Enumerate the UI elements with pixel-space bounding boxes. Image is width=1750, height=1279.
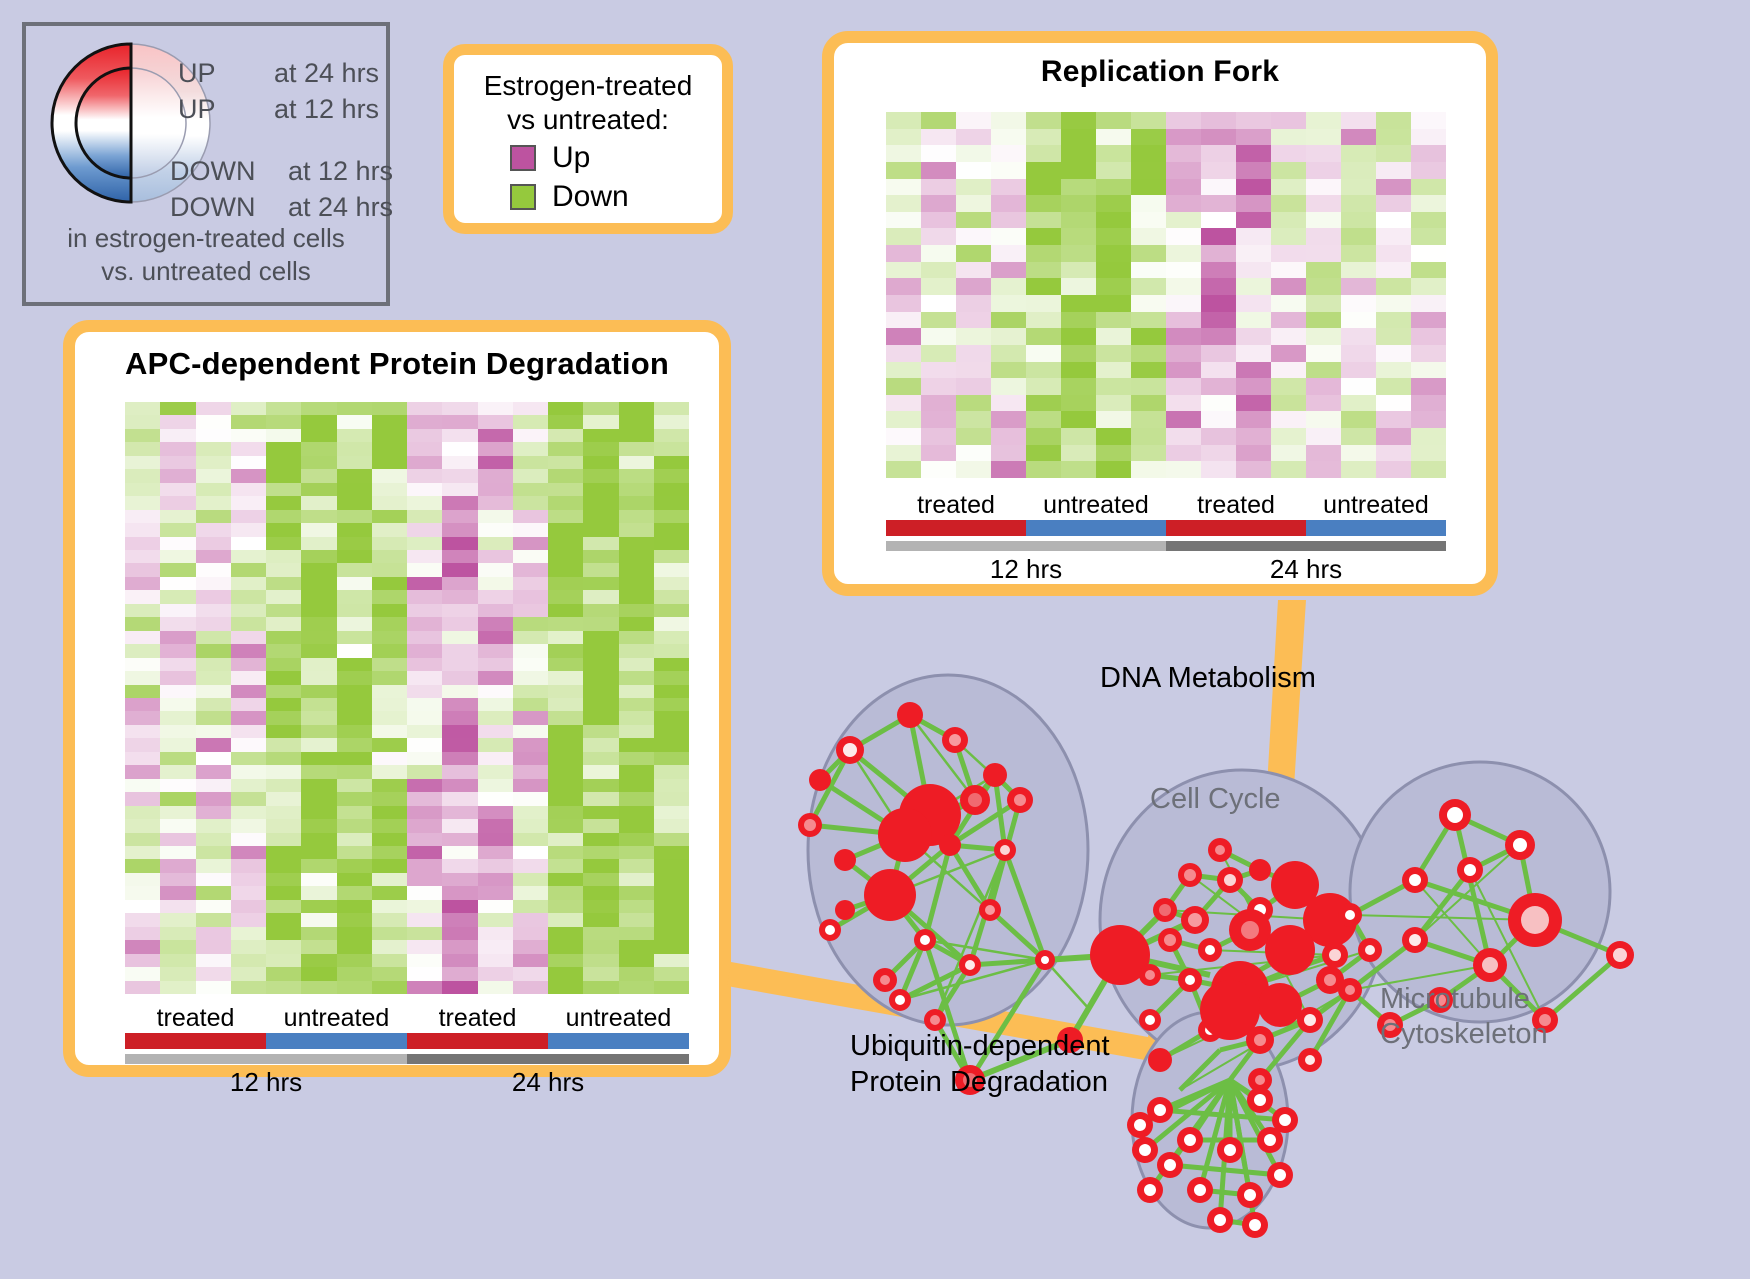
heatmap-cell [1201,112,1236,129]
apc-time-12: 12 hrs [125,1067,407,1098]
apc-cond-2: treated [407,1004,548,1033]
heatmap-cell [619,550,654,563]
heatmap-cell [1061,129,1096,146]
heatmap-cell [301,711,336,724]
heatmap-cell [442,765,477,778]
heatmap-cell [372,469,407,482]
rf-cond-1: untreated [1026,491,1166,520]
heatmap-cell [231,644,266,657]
heatmap-cell [654,779,689,792]
heatmap-cell [654,631,689,644]
heatmap-cell [231,510,266,523]
heatmap-cell [1376,345,1411,362]
heatmap-cell [442,442,477,455]
heatmap-cell [1026,428,1061,445]
heatmap-cell [513,496,548,509]
heatmap-cell [266,523,301,536]
heatmap-cell [1306,312,1341,329]
heatmap-cell [1271,362,1306,379]
heatmap-cell [160,590,195,603]
heatmap-cell [619,429,654,442]
heatmap-cell [196,725,231,738]
heatmap-cell [583,590,618,603]
heatmap-cell [1131,395,1166,412]
heatmap-cell [619,981,654,994]
heatmap-cell [956,411,991,428]
condition-labels-rf: treated untreated treated untreated [886,491,1446,520]
heatmap-cell [654,725,689,738]
heatmap-cell [372,752,407,765]
heatmap-cell [548,550,583,563]
heatmap-cell [407,550,442,563]
heatmap-cell [478,604,513,617]
heatmap-cell [407,644,442,657]
heatmap-cell [1061,262,1096,279]
heatmap-cell [407,671,442,684]
heatmap-cell [196,859,231,872]
heatmap-cell [301,550,336,563]
heatmap-cell [301,429,336,442]
heatmap-cell [125,981,160,994]
heatmap-cell [442,537,477,550]
heatmap-cell [160,685,195,698]
heatmap-cell [372,738,407,751]
heatmap-cell [583,886,618,899]
heatmap-cell [407,685,442,698]
heatmap-cell [1131,411,1166,428]
heatmap-cell [548,738,583,751]
heatmap-cell [583,617,618,630]
heatmap-cell [654,967,689,980]
heatmap-cell [1166,328,1201,345]
heatmap-cell [513,644,548,657]
heatmap-cell [407,779,442,792]
heatmap-cell [231,954,266,967]
heatmap-cell [337,846,372,859]
heatmap-cell [1061,378,1096,395]
heatmap-cell [231,496,266,509]
heatmap-cell [231,873,266,886]
heatmap-cell [1236,328,1271,345]
heatmap-cell [266,738,301,751]
heatmap-cell [583,967,618,980]
heatmap-cell [513,563,548,576]
heatmap-cell [125,873,160,886]
heatmap-cell [337,604,372,617]
heatmap-cell [1201,362,1236,379]
heatmap-cell [1236,295,1271,312]
heatmap-cell [125,469,160,482]
heatmap-cell [991,328,1026,345]
heatmap-cell [1376,212,1411,229]
heatmap-cell [231,981,266,994]
heatmap-cell [196,927,231,940]
heatmap-cell [1131,162,1166,179]
heatmap-cell [160,415,195,428]
heatmap-cell [125,644,160,657]
heatmap-cell [478,442,513,455]
heatmap-cell [442,496,477,509]
heatmap-cell [654,873,689,886]
heatmap-cell [266,577,301,590]
heatmap-cell [196,671,231,684]
heatmap-cell [196,779,231,792]
heatmap-cell [478,779,513,792]
heatmap-cell [337,725,372,738]
heatmap-cell [1166,445,1201,462]
heatmap-cell [231,563,266,576]
heatmap-cell [513,577,548,590]
heatmap-cell [442,604,477,617]
heatmap-cell [125,415,160,428]
heatmap-cell [231,900,266,913]
heatmap-cell [266,604,301,617]
heatmap-cell [337,738,372,751]
heatmap-cell [407,954,442,967]
heatmap-cell [1341,212,1376,229]
heatmap-cell [442,685,477,698]
heatmap-cell [1271,162,1306,179]
heatmap-cell [478,631,513,644]
heatmap-cell [337,900,372,913]
heatmap-cell [619,913,654,926]
heatmap-cell [301,617,336,630]
heatmap-cell [619,617,654,630]
heatmap-cell [1411,112,1446,129]
heatmap-cell [619,563,654,576]
heatmap-cell [301,523,336,536]
heatmap-cell [1026,328,1061,345]
heatmap-cell [548,752,583,765]
heatmap-cell [956,395,991,412]
heatmap-cell [442,779,477,792]
heatmap-cell [266,456,301,469]
heatmap-cell [337,967,372,980]
key-time-up-24: at 24 hrs [274,58,379,89]
heatmap-cell [125,442,160,455]
heatmap-cell [442,806,477,819]
heatmap-cell [266,913,301,926]
heatmap-cell [125,698,160,711]
heatmap-cell [1271,345,1306,362]
heatmap-cell [654,469,689,482]
heatmap-cell [583,496,618,509]
heatmap-cell [583,779,618,792]
heatmap-cell [513,873,548,886]
heatmap-cell [160,510,195,523]
heatmap-cell [231,442,266,455]
heatmap-cell [196,469,231,482]
heatmap-cell [442,456,477,469]
heatmap-cell [231,738,266,751]
heatmap-cell [619,819,654,832]
heatmap-cell [160,429,195,442]
heatmap-cell [160,806,195,819]
heatmap-cell [372,590,407,603]
heatmap-cell [301,913,336,926]
heatmap-cell [886,195,921,212]
heatmap-cell [1411,195,1446,212]
heatmap-cell [956,145,991,162]
heatmap-cell [1201,411,1236,428]
heatmap-cell [266,806,301,819]
heatmap-cell [513,967,548,980]
heatmap-cell [654,738,689,751]
heatmap-cell [513,617,548,630]
heatmap-cell [231,913,266,926]
heatmap-cell [513,940,548,953]
heatmap-cell [1096,245,1131,262]
heatmap-cell [1061,362,1096,379]
heatmap-cell [478,967,513,980]
heatmap-cell [125,833,160,846]
heatmap-cell [513,806,548,819]
heatmap-cell [1376,362,1411,379]
heatmap-cell [1236,395,1271,412]
heatmap-cell [513,631,548,644]
heatmap-cell [1166,195,1201,212]
heatmap-cell [231,967,266,980]
heatmap-cell [231,859,266,872]
heatmap-cell [125,954,160,967]
heatmap-cell [478,927,513,940]
heatmap-cell [266,927,301,940]
heatmap-cell [1341,428,1376,445]
heatmap-cell [1201,129,1236,146]
heatmap-cell [478,752,513,765]
heatmap-cell [1411,362,1446,379]
heatmap-cell [160,523,195,536]
heatmap-cell [1026,112,1061,129]
heatmap-cell [956,345,991,362]
heatmap-cell [583,510,618,523]
heatmap-cell [583,913,618,926]
heatmap-cell [991,145,1026,162]
heatmap-cell [442,523,477,536]
heatmap-cell [442,469,477,482]
heatmap-cell [991,129,1026,146]
heatmap-cell [1166,395,1201,412]
heatmap-cell [478,833,513,846]
heatmap-cell [442,913,477,926]
heatmap-cell [1341,262,1376,279]
heatmap-cell [921,145,956,162]
heatmap-cell [407,927,442,940]
heatmap-cell [513,429,548,442]
heatmap-cell [513,537,548,550]
heatmap-cell [956,378,991,395]
heatmap-cell [619,765,654,778]
heatmap-cell [442,617,477,630]
heatmap-cell [1026,162,1061,179]
heatmap-cell [991,312,1026,329]
heatmap-cell [266,900,301,913]
heatmap-cell [301,537,336,550]
heatmap-cell [125,725,160,738]
heatmap-cell [1376,228,1411,245]
heatmap-cell [196,563,231,576]
heatmap-cell [125,886,160,899]
heatmap-cell [231,456,266,469]
heatmap-cell [583,833,618,846]
heatmap-cell [619,685,654,698]
heatmap-cell [337,469,372,482]
heatmap-cell [921,179,956,196]
heatmap-cell [478,819,513,832]
heatmap-cell [1166,362,1201,379]
heatmap-cell [160,671,195,684]
heatmap-cell [372,671,407,684]
heatmap-cell [583,563,618,576]
heatmap-cell [991,445,1026,462]
heatmap-cell [1271,378,1306,395]
heatmap-cell [1201,228,1236,245]
heatmap-cell [196,550,231,563]
heatmap-cell [1376,262,1411,279]
heatmap-cell [301,631,336,644]
heatmap-cell [407,900,442,913]
heatmap-cell [1306,295,1341,312]
heatmap-cell [478,846,513,859]
heatmap-cell [337,954,372,967]
cluster-label-cell-cycle: Cell Cycle [1150,782,1281,817]
heatmap-cell [478,981,513,994]
heatmap-cell [407,402,442,415]
heatmap-cell [1131,278,1166,295]
heatmap-cell [231,765,266,778]
heatmap-cell [921,245,956,262]
legend-label-down: Down [552,180,629,214]
heatmap-cell [442,967,477,980]
heatmap-cell [196,967,231,980]
heatmap-cell [1271,395,1306,412]
heatmap-cell [442,402,477,415]
heatmap-cell [301,496,336,509]
heatmap-cell [478,550,513,563]
heatmap-cell [548,913,583,926]
heatmap-cell [1271,179,1306,196]
heatmap-cell [1166,345,1201,362]
heatmap-cell [921,278,956,295]
heatmap-cell [1026,445,1061,462]
heatmap-cell [337,644,372,657]
heatmap-cell [583,806,618,819]
heatmap-cell [407,940,442,953]
heatmap-cell [301,954,336,967]
updown-legend-card: Estrogen-treated vs untreated: Up Down [443,44,733,234]
cluster-label-ubiquitin-line2: Protein Degradation [850,1064,1110,1100]
heatmap-cell [1376,461,1411,478]
heatmap-cell [442,833,477,846]
heatmap-cell [583,752,618,765]
heatmap-cell [372,779,407,792]
heatmap-cell [372,604,407,617]
heatmap-cell [513,900,548,913]
cluster-label-dna-metabolism: DNA Metabolism [1100,662,1316,695]
heatmap-cell [956,295,991,312]
heatmap-cell [407,846,442,859]
heatmap-cell [1306,162,1341,179]
heatmap-cell [196,496,231,509]
heatmap-cell [160,550,195,563]
heatmap-cell [548,577,583,590]
network-graph [790,620,1750,1279]
heatmap-cell [231,671,266,684]
heatmap-cell [1201,328,1236,345]
heatmap-cell [160,469,195,482]
heatmap-cell [442,671,477,684]
heatmap-cell [478,685,513,698]
heatmap-cell [1306,129,1341,146]
heatmap-cell [372,833,407,846]
heatmap-cell [196,698,231,711]
heatmap-cell [1166,378,1201,395]
heatmap-cell [372,685,407,698]
heatmap-cell [619,940,654,953]
heatmap-cell [886,179,921,196]
heatmap-cell [301,940,336,953]
heatmap-cell [619,792,654,805]
heatmap-cell [196,510,231,523]
heatmap-cell [619,711,654,724]
heatmap-cell [886,461,921,478]
heatmap-cell [548,833,583,846]
heatmap-cell [337,577,372,590]
heatmap-cell [407,738,442,751]
heatmap-cell [1131,262,1166,279]
heatmap-cell [160,913,195,926]
heatmap-cell [407,859,442,872]
heatmap-cell [478,859,513,872]
heatmap-cell [921,212,956,229]
heatmap-cell [337,886,372,899]
heatmap-cell [160,604,195,617]
heatmap-cell [921,445,956,462]
heatmap-cell [513,752,548,765]
heatmap-cell [1236,278,1271,295]
heatmap-cell [478,711,513,724]
rf-bar-untreated-24 [1306,520,1446,536]
heatmap-cell [196,644,231,657]
heatmap-cell [196,913,231,926]
heatmap-cell [125,577,160,590]
heatmap-cell [1061,228,1096,245]
heatmap-cell [231,833,266,846]
heatmap-cell [654,833,689,846]
heatmap-cell [478,644,513,657]
heatmap-cell [886,395,921,412]
heatmap-cell [231,658,266,671]
heatmap-cell [583,981,618,994]
heatmap-cell [583,927,618,940]
heatmap-cell [548,685,583,698]
heatmap-cell [921,112,956,129]
panel-title-apc: APC-dependent Protein Degradation [75,346,719,382]
heatmap-cell [1376,162,1411,179]
heatmap-cell [478,698,513,711]
key-footnote-line1: in estrogen-treated cells [26,222,386,255]
heatmap-cell [266,967,301,980]
heatmap-cell [1306,461,1341,478]
heatmap-cell [478,671,513,684]
heatmap-cell [231,577,266,590]
heatmap-cell [583,658,618,671]
heatmap-cell [583,550,618,563]
heatmap-cell [1131,195,1166,212]
heatmap-cell [1096,162,1131,179]
heatmap-cell [1096,278,1131,295]
heatmap-cell [196,846,231,859]
